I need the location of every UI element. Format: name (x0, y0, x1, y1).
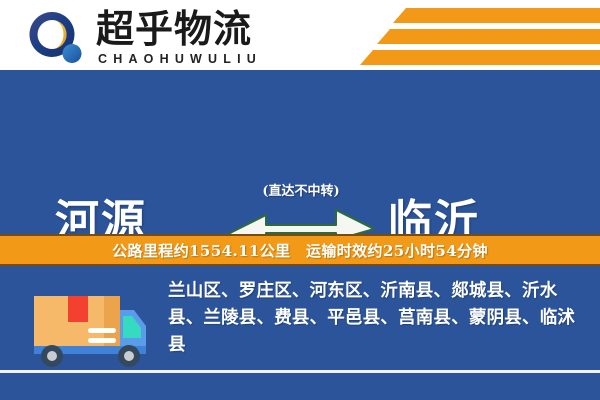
brand-name-en: CHAOHUWULIU (98, 52, 262, 66)
stripe-1 (393, 8, 600, 23)
direct-shipping-note: (直达不中转) (225, 180, 377, 199)
logistics-route-banner: 超乎物流 CHAOHUWULIU 河源 (直达不中转) 【往返运输】 临沂 公路… (0, 0, 600, 400)
stripe-2 (377, 29, 600, 44)
stripe-3 (360, 50, 600, 65)
brand-name-cn: 超乎物流 (96, 6, 252, 52)
distance-duration-text: 公路里程约1554.11公里 运输时效约25小时54分钟 (112, 240, 488, 261)
route-info-bar: 公路里程约1554.11公里 运输时效约25小时54分钟 (0, 234, 600, 266)
brand-logo: 超乎物流 CHAOHUWULIU (26, 8, 306, 66)
route-panel: 河源 (直达不中转) 【往返运输】 临沂 (0, 70, 600, 234)
circle-q-logo-icon (26, 10, 88, 65)
covered-districts-text: 兰山区、罗庄区、河东区、沂南县、郯城县、沂水县、兰陵县、费县、平邑县、莒南县、蒙… (168, 278, 586, 359)
header-stripes-decoration (340, 8, 600, 66)
delivery-truck-icon (22, 272, 150, 372)
header: 超乎物流 CHAOHUWULIU (0, 0, 600, 70)
